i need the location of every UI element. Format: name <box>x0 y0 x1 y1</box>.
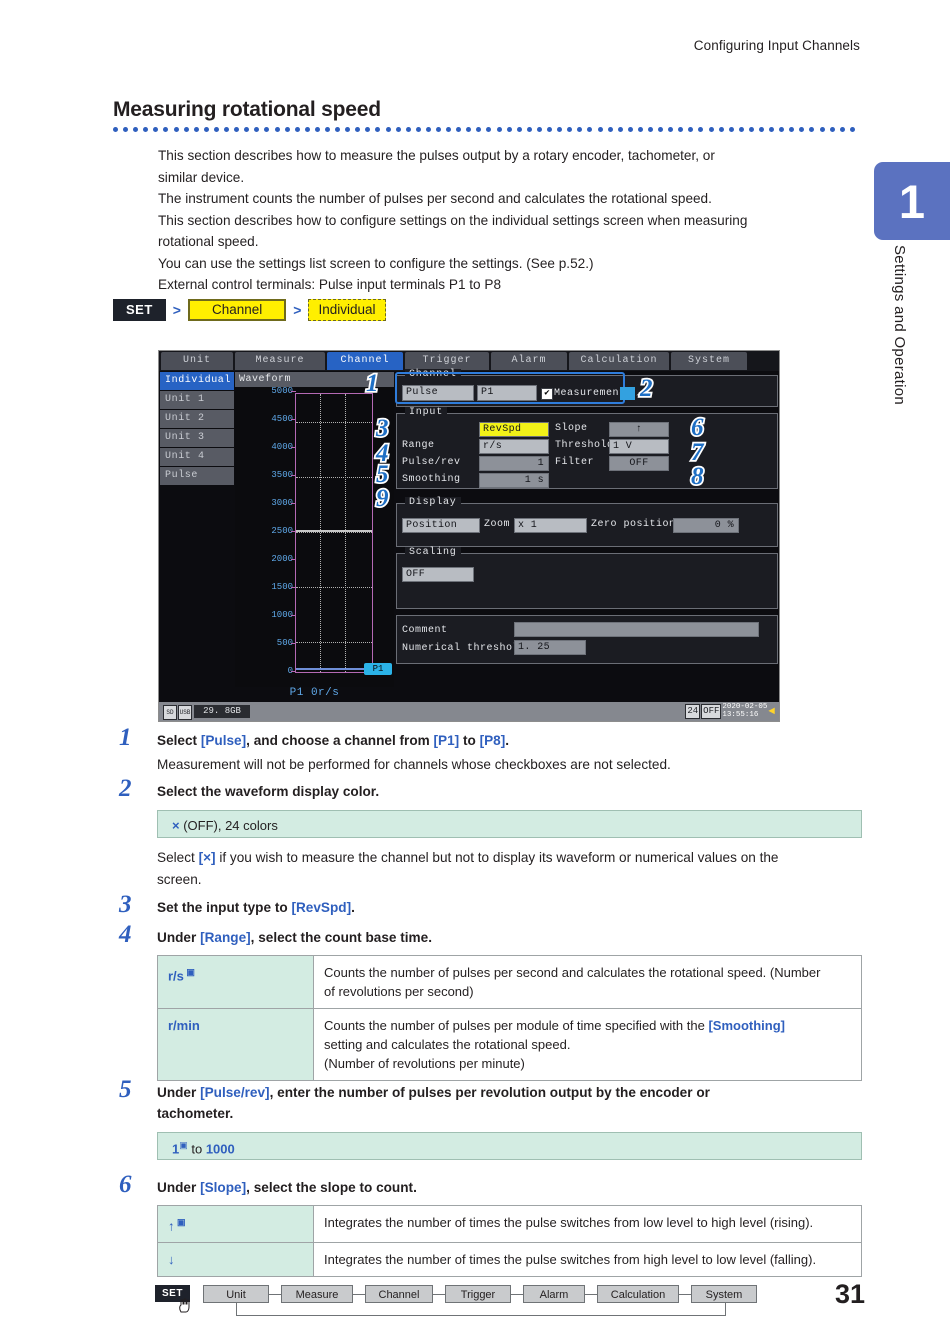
waveform-trace <box>296 668 372 670</box>
footer-nav-item-calculation[interactable]: Calculation <box>597 1285 679 1303</box>
description-line: Counts the number of pulses per module o… <box>324 1016 851 1035</box>
waveform-y-tick: 1500 <box>235 582 293 592</box>
waveform-caption: P1 0r/s <box>235 687 394 699</box>
input-group-legend: Input <box>405 407 447 418</box>
step-1-text: Select [Pulse], and choose a channel fro… <box>157 730 867 751</box>
footer-nav-item-trigger[interactable]: Trigger <box>445 1285 511 1303</box>
table-option-key: ↑ ▣ <box>158 1206 314 1243</box>
text-run: , select the slope to count. <box>246 1180 417 1195</box>
intro-line-4: This section describes how to configure … <box>158 210 858 232</box>
device-tab-unit[interactable]: Unit <box>161 352 233 370</box>
slope-options-table: ↑ ▣Integrates the number of times the pu… <box>157 1205 862 1277</box>
pulse-per-rev-input[interactable]: 1 <box>479 456 549 471</box>
table-row: ↑ ▣Integrates the number of times the pu… <box>158 1206 862 1243</box>
table-option-key: r/s ▣ <box>158 956 314 1009</box>
text-run: if you wish to measure the channel but n… <box>216 850 779 865</box>
footer-nav-connector <box>585 1294 597 1295</box>
intro-line-5: rotational speed. <box>158 231 858 253</box>
step-2-text: Select the waveform display color. <box>157 781 867 802</box>
step-3-text: Set the input type to [RevSpd]. <box>157 897 867 918</box>
footer-nav-item-alarm[interactable]: Alarm <box>523 1285 585 1303</box>
callout-2: 2 <box>640 375 653 403</box>
step-5-text-line2: tachometer. <box>157 1103 867 1124</box>
threshold-select[interactable]: 1 V <box>609 439 669 454</box>
device-status-bar: SD USB 29. 8GB 24 OFF 2020-02-05 13:55:1… <box>159 702 779 721</box>
text-run: [×] <box>199 850 216 865</box>
device-tab-calculation[interactable]: Calculation <box>569 352 669 370</box>
text-run: [P8] <box>480 733 506 748</box>
power-plug-icon: ◄ <box>768 706 775 718</box>
slope-button[interactable]: ↑ <box>609 422 669 437</box>
table-option-key: ↓ <box>158 1243 314 1277</box>
breadcrumb-item-individual[interactable]: Individual <box>308 299 385 321</box>
waveform-area: 5000450040003500300025002000150010005000… <box>235 387 394 687</box>
step-6-text: Under [Slope], select the slope to count… <box>157 1177 867 1198</box>
device-sidebar-item-unit-2[interactable]: Unit 2 <box>160 410 234 428</box>
waveform-gridline-v <box>320 394 321 672</box>
text-run: Set the input type to <box>157 900 291 915</box>
footer-nav-connector <box>511 1294 523 1295</box>
numerical-threshold-label: Numerical threshold <box>402 643 526 654</box>
default-marker-icon: ▣ <box>179 1140 188 1150</box>
text-run: , and choose a channel from <box>246 733 433 748</box>
waveform-y-tick: 3500 <box>235 470 293 480</box>
page-number: 31 <box>835 1279 865 1310</box>
waveform-y-tick: 0 <box>235 666 293 676</box>
waveform-y-tick: 2000 <box>235 554 293 564</box>
footer-nav-loop <box>236 1303 726 1316</box>
text-run: Under <box>157 1180 200 1195</box>
intro-line-6: You can use the settings list screen to … <box>158 253 858 275</box>
display-group-legend: Display <box>405 497 461 508</box>
step-2-values-box: × (OFF), 24 colors <box>157 810 862 838</box>
waveform-y-tick: 4500 <box>235 414 293 424</box>
device-tab-channel[interactable]: Channel <box>327 352 403 370</box>
scaling-select[interactable]: OFF <box>402 567 474 582</box>
waveform-grid <box>295 393 373 673</box>
chapter-tab-number: 1 <box>874 162 950 240</box>
filter-label: Filter <box>555 457 594 468</box>
pulse-rev-max: 1000 <box>206 1141 235 1156</box>
range-select[interactable]: r/s <box>479 439 549 454</box>
step-number-4: 4 <box>119 921 132 949</box>
status-right-cluster: 24 OFF 2020-02-05 13:55:16 ◄ <box>685 704 775 719</box>
device-sidebar: IndividualUnit 1Unit 2Unit 3Unit 4Pulse <box>160 372 234 486</box>
waveform-gridline-h <box>296 422 372 423</box>
table-option-description: Counts the number of pulses per second a… <box>314 956 862 1009</box>
device-sidebar-item-pulse[interactable]: Pulse <box>160 467 234 485</box>
step-5-text: Under [Pulse/rev], enter the number of p… <box>157 1082 867 1103</box>
text-run: [Range] <box>200 930 251 945</box>
table-option-description: Counts the number of pulses per module o… <box>314 1009 862 1081</box>
step-2-after-text: Select [×] if you wish to measure the ch… <box>157 847 867 868</box>
text-run: , select the count base time. <box>251 930 432 945</box>
text-run: [RevSpd] <box>291 900 351 915</box>
footer-nav-connector <box>679 1294 691 1295</box>
status-time: 13:55:16 <box>722 712 767 720</box>
table-option-key: r/min <box>158 1009 314 1081</box>
default-marker-icon: ▣ <box>184 967 195 977</box>
intro-line-7: External control terminals: Pulse input … <box>158 274 858 296</box>
sd-card-icon: SD <box>163 705 177 720</box>
waveform-y-tick: 1000 <box>235 610 293 620</box>
description-line: setting and calculates the rotational sp… <box>324 1035 851 1054</box>
text-run: [Slope] <box>200 1180 246 1195</box>
description-line: Counts the number of pulses per second a… <box>324 963 851 982</box>
footer-nav-connector <box>353 1294 365 1295</box>
waveform-cursor-line[interactable] <box>296 530 372 532</box>
text-run: Select the waveform display color. <box>157 784 379 799</box>
text-run: . <box>351 900 355 915</box>
smoothing-label: Smoothing <box>402 474 461 485</box>
waveform-gridline-h <box>296 532 372 533</box>
footer-nav-item-channel[interactable]: Channel <box>365 1285 433 1303</box>
usb-drive-icon: USB <box>178 705 192 720</box>
waveform-y-tick: 500 <box>235 638 293 648</box>
color-off-key: × <box>172 818 180 833</box>
callout-1: 1 <box>366 370 379 398</box>
table-row: ↓Integrates the number of times the puls… <box>158 1243 862 1277</box>
threshold-label: Threshold <box>555 440 614 451</box>
channel-number-select[interactable]: P1 <box>477 385 537 401</box>
footer-nav-item-measure[interactable]: Measure <box>281 1285 353 1303</box>
slope-label: Slope <box>555 423 588 434</box>
device-sidebar-item-unit-4[interactable]: Unit 4 <box>160 448 234 466</box>
comment-label: Comment <box>402 625 448 636</box>
callout-3: 3 <box>376 415 389 443</box>
breadcrumb-item-channel[interactable]: Channel <box>188 299 286 321</box>
hand-cursor-icon <box>178 1298 191 1313</box>
intro-line-3: The instrument counts the number of puls… <box>158 188 858 210</box>
waveform-gridline-h <box>296 587 372 588</box>
intro-paragraph: This section describes how to measure th… <box>158 145 858 296</box>
pulse-per-rev-label: Pulse/rev <box>402 457 461 468</box>
device-tab-trigger[interactable]: Trigger <box>405 352 489 370</box>
text-run: Under <box>157 930 200 945</box>
step-5-range-box: 1▣ to 1000 <box>157 1132 862 1160</box>
pulse-rev-sep: to <box>188 1141 206 1156</box>
footer-nav-item-system[interactable]: System <box>691 1285 757 1303</box>
breadcrumb-separator-1: > <box>173 302 181 318</box>
step-number-3: 3 <box>119 891 132 919</box>
text-run: . <box>505 733 509 748</box>
text-run: [Pulse/rev] <box>200 1085 270 1100</box>
page-title: Measuring rotational speed <box>113 98 381 122</box>
numerical-threshold-input[interactable]: 1. 25 <box>514 640 586 655</box>
step-number-5: 5 <box>119 1076 132 1104</box>
intro-line-2: similar device. <box>158 167 858 189</box>
table-row: r/minCounts the number of pulses per mod… <box>158 1009 862 1081</box>
zero-position-label: Zero position <box>591 519 676 530</box>
instrument-screenshot: UnitMeasureChannelTriggerAlarmCalculatio… <box>158 350 780 722</box>
display-position-select[interactable]: Position <box>402 518 480 533</box>
device-sidebar-item-unit-1[interactable]: Unit 1 <box>160 391 234 409</box>
breadcrumb-set-key[interactable]: SET <box>113 299 166 321</box>
inline-term: [Smoothing] <box>708 1018 785 1033</box>
waveform-y-tick: 2500 <box>235 526 293 536</box>
text-run: to <box>459 733 479 748</box>
title-dot-rule <box>113 127 863 134</box>
step-1-note: Measurement will not be performed for ch… <box>157 754 867 775</box>
table-row: r/s ▣Counts the number of pulses per sec… <box>158 956 862 1009</box>
waveform-channel-tag: P1 <box>364 663 392 675</box>
zoom-label: Zoom <box>484 519 510 530</box>
zoom-select[interactable]: x 1 <box>514 518 587 533</box>
text-run: [Pulse] <box>201 733 246 748</box>
step-2-after-text-line2: screen. <box>157 869 867 890</box>
device-tab-measure[interactable]: Measure <box>235 352 325 370</box>
storage-capacity: 29. 8GB <box>194 705 250 718</box>
measurement-label: Measurement <box>554 388 626 399</box>
waveform-gridline-h <box>296 642 372 643</box>
waveform-y-tick: 4000 <box>235 442 293 452</box>
channel-count-badge: 24 <box>685 704 700 719</box>
device-sidebar-item-individual[interactable]: Individual <box>160 372 234 390</box>
callout-9: 9 <box>376 485 389 513</box>
footer-nav-connector <box>433 1294 445 1295</box>
smoothing-input[interactable]: 1 s <box>479 473 549 488</box>
power-state-badge: OFF <box>701 704 721 719</box>
waveform-gridline-h <box>296 477 372 478</box>
zero-position-input[interactable]: 0 % <box>673 518 739 533</box>
range-options-table: r/s ▣Counts the number of pulses per sec… <box>157 955 862 1081</box>
step-number-1: 1 <box>119 724 132 752</box>
description-line: Integrates the number of times the pulse… <box>324 1250 851 1269</box>
comment-input[interactable] <box>514 622 759 637</box>
text-run: Select <box>157 850 199 865</box>
description-line: Integrates the number of times the pulse… <box>324 1213 851 1232</box>
callout-6: 6 <box>691 414 704 442</box>
waveform-y-tick-mark <box>291 391 296 392</box>
step-number-2: 2 <box>119 775 132 803</box>
waveform-y-tick: 5000 <box>235 386 293 396</box>
device-tab-system[interactable]: System <box>671 352 747 370</box>
waveform-color-chip[interactable] <box>620 387 635 400</box>
footer-nav-item-unit[interactable]: Unit <box>203 1285 269 1303</box>
document-page: Configuring Input Channels 1 Settings an… <box>0 0 950 1343</box>
waveform-gridline-v <box>345 394 346 672</box>
callout-8: 8 <box>691 463 704 491</box>
breadcrumb-separator-2: > <box>293 302 301 318</box>
input-type-select[interactable]: RevSpd <box>479 422 549 437</box>
chapter-tab-label: Settings and Operation <box>884 245 908 445</box>
waveform-y-tick: 3000 <box>235 498 293 508</box>
description-line: (Number of revolutions per minute) <box>324 1054 851 1073</box>
text-run: Under <box>157 1085 200 1100</box>
scaling-group-legend: Scaling <box>405 547 461 558</box>
description-line: of revolutions per second) <box>324 982 851 1001</box>
device-tab-alarm[interactable]: Alarm <box>491 352 567 370</box>
text-run: [P1] <box>434 733 460 748</box>
measurement-checkbox[interactable]: ✔ <box>541 388 553 400</box>
footer-nav-connector <box>269 1294 281 1295</box>
device-sidebar-item-unit-3[interactable]: Unit 3 <box>160 429 234 447</box>
text-run: Select <box>157 733 201 748</box>
table-option-description: Integrates the number of times the pulse… <box>314 1243 862 1277</box>
running-head: Configuring Input Channels <box>694 38 860 53</box>
text-run: , enter the number of pulses per revolut… <box>270 1085 710 1100</box>
device-tab-bar: UnitMeasureChannelTriggerAlarmCalculatio… <box>159 351 779 371</box>
color-options: (OFF), 24 colors <box>180 818 278 833</box>
default-marker-icon: ▣ <box>175 1217 186 1227</box>
filter-button[interactable]: OFF <box>609 456 669 471</box>
table-option-description: Integrates the number of times the pulse… <box>314 1206 862 1243</box>
intro-line-1: This section describes how to measure th… <box>158 145 858 167</box>
step-4-text: Under [Range], select the count base tim… <box>157 927 867 948</box>
range-label: Range <box>402 440 435 451</box>
breadcrumb: SET > Channel > Individual <box>113 299 386 321</box>
channel-type-select[interactable]: Pulse <box>402 385 474 401</box>
step-number-6: 6 <box>119 1171 132 1199</box>
